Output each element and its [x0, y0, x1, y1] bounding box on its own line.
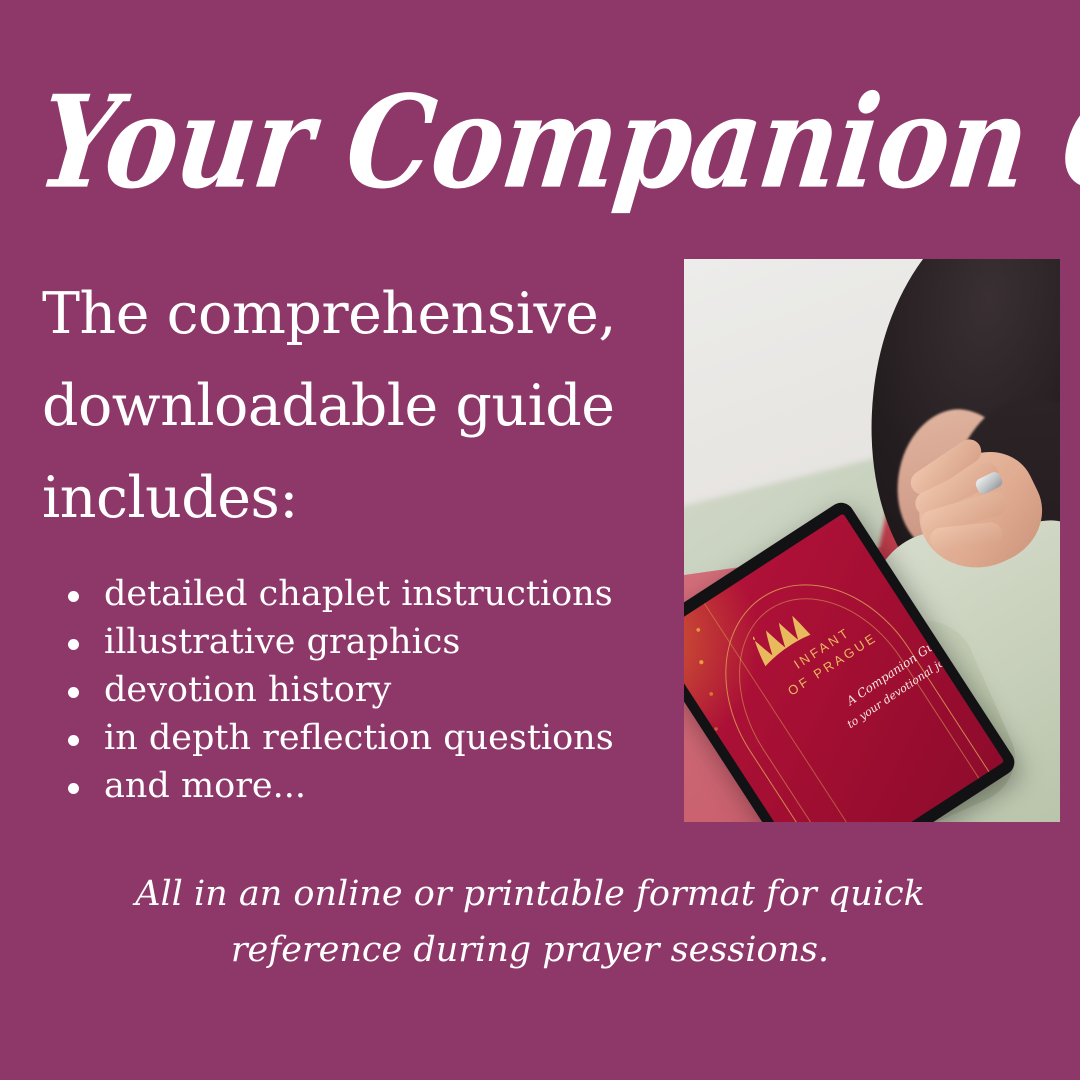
bullet-icon [68, 639, 79, 650]
feature-list: detailed chaplet instructions illustrati… [62, 570, 682, 810]
list-item-label: devotion history [104, 670, 391, 710]
bullet-icon [68, 687, 79, 698]
list-item: in depth reflection questions [62, 714, 682, 762]
footer-caption: All in an online or printable format for… [60, 866, 1000, 978]
list-item: illustrative graphics [62, 618, 682, 666]
list-item-label: and more... [104, 766, 306, 806]
list-item-label: in depth reflection questions [104, 718, 614, 758]
list-item: and more... [62, 762, 682, 810]
subheading: The comprehensive, downloadable guide in… [42, 268, 672, 544]
companion-guide-poster: Your Companion Guide The comprehensive, … [0, 0, 1080, 1080]
bullet-icon [68, 735, 79, 746]
list-item: devotion history [62, 666, 682, 714]
list-item-label: detailed chaplet instructions [104, 574, 613, 614]
list-item: detailed chaplet instructions [62, 570, 682, 618]
bullet-icon [68, 591, 79, 602]
lifestyle-photo: INFANT OF PRAGUE A Companion Guide to yo… [684, 259, 1060, 822]
page-title: Your Companion Guide [29, 55, 1071, 232]
bullet-icon [68, 783, 79, 794]
list-item-label: illustrative graphics [104, 622, 460, 662]
